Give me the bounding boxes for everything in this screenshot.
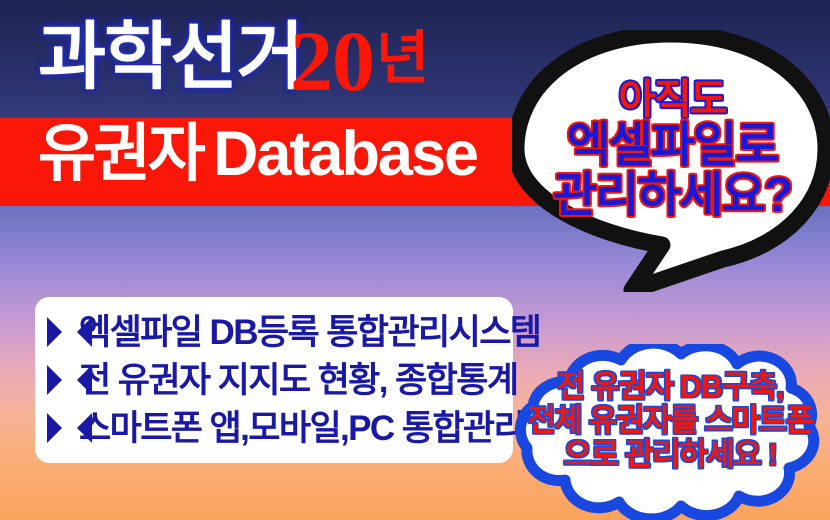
- feature-list-box: 엑셀파일 DB등록 통합관리시스템 전 유권자 지지도 현황, 종합통계 스마트…: [35, 297, 513, 463]
- speech-bubble-line-2: 엑셀파일로: [538, 121, 806, 171]
- headline-secondary: 유권자Database: [38, 123, 477, 186]
- headline-secondary-korean: 유권자: [38, 119, 203, 189]
- diamond-bullet-icon: [47, 413, 77, 443]
- headline-years-number: 20: [290, 13, 374, 109]
- headline-secondary-english: Database: [213, 119, 477, 189]
- speech-bubble-line-1: 아직도: [538, 78, 806, 121]
- diamond-bullet-icon: [47, 317, 77, 347]
- cloud-callout-line-2: 전체 유권자를 스마트폰: [525, 404, 815, 438]
- cloud-callout-text: 전 유권자 DB구축, 전체 유권자를 스마트폰 으로 관리하세요 !: [525, 370, 815, 472]
- speech-bubble-callout: 아직도 엑셀파일로 관리하세요?: [512, 30, 830, 292]
- list-item: 스마트폰 앱,모바일,PC 통합관리: [47, 404, 513, 452]
- headline-years-unit: 년: [376, 26, 428, 91]
- list-item: 전 유권자 지지도 현황, 종합통계: [47, 356, 513, 404]
- list-item-label: 스마트폰 앱,모바일,PC 통합관리: [79, 411, 524, 446]
- cloud-callout-line-1: 전 유권자 DB구축,: [525, 370, 815, 404]
- speech-bubble-text: 아직도 엑셀파일로 관리하세요?: [538, 78, 806, 220]
- list-item: 엑셀파일 DB등록 통합관리시스템: [47, 308, 513, 356]
- list-item-label: 전 유권자 지지도 현황, 종합통계: [79, 363, 517, 398]
- promo-banner: 과학선거 20년 유권자Database 엑셀파일 DB등록 통합관리시스템 전…: [0, 0, 830, 520]
- diamond-bullet-icon: [47, 365, 77, 395]
- headline-years-group: 20년: [290, 18, 426, 104]
- list-item-label: 엑셀파일 DB등록 통합관리시스템: [79, 315, 540, 350]
- cloud-callout: 전 유권자 DB구축, 전체 유권자를 스마트폰 으로 관리하세요 !: [503, 344, 830, 520]
- cloud-callout-line-3: 으로 관리하세요 !: [525, 438, 815, 472]
- headline-primary: 과학선거: [38, 20, 302, 94]
- speech-bubble-line-3: 관리하세요?: [538, 171, 806, 221]
